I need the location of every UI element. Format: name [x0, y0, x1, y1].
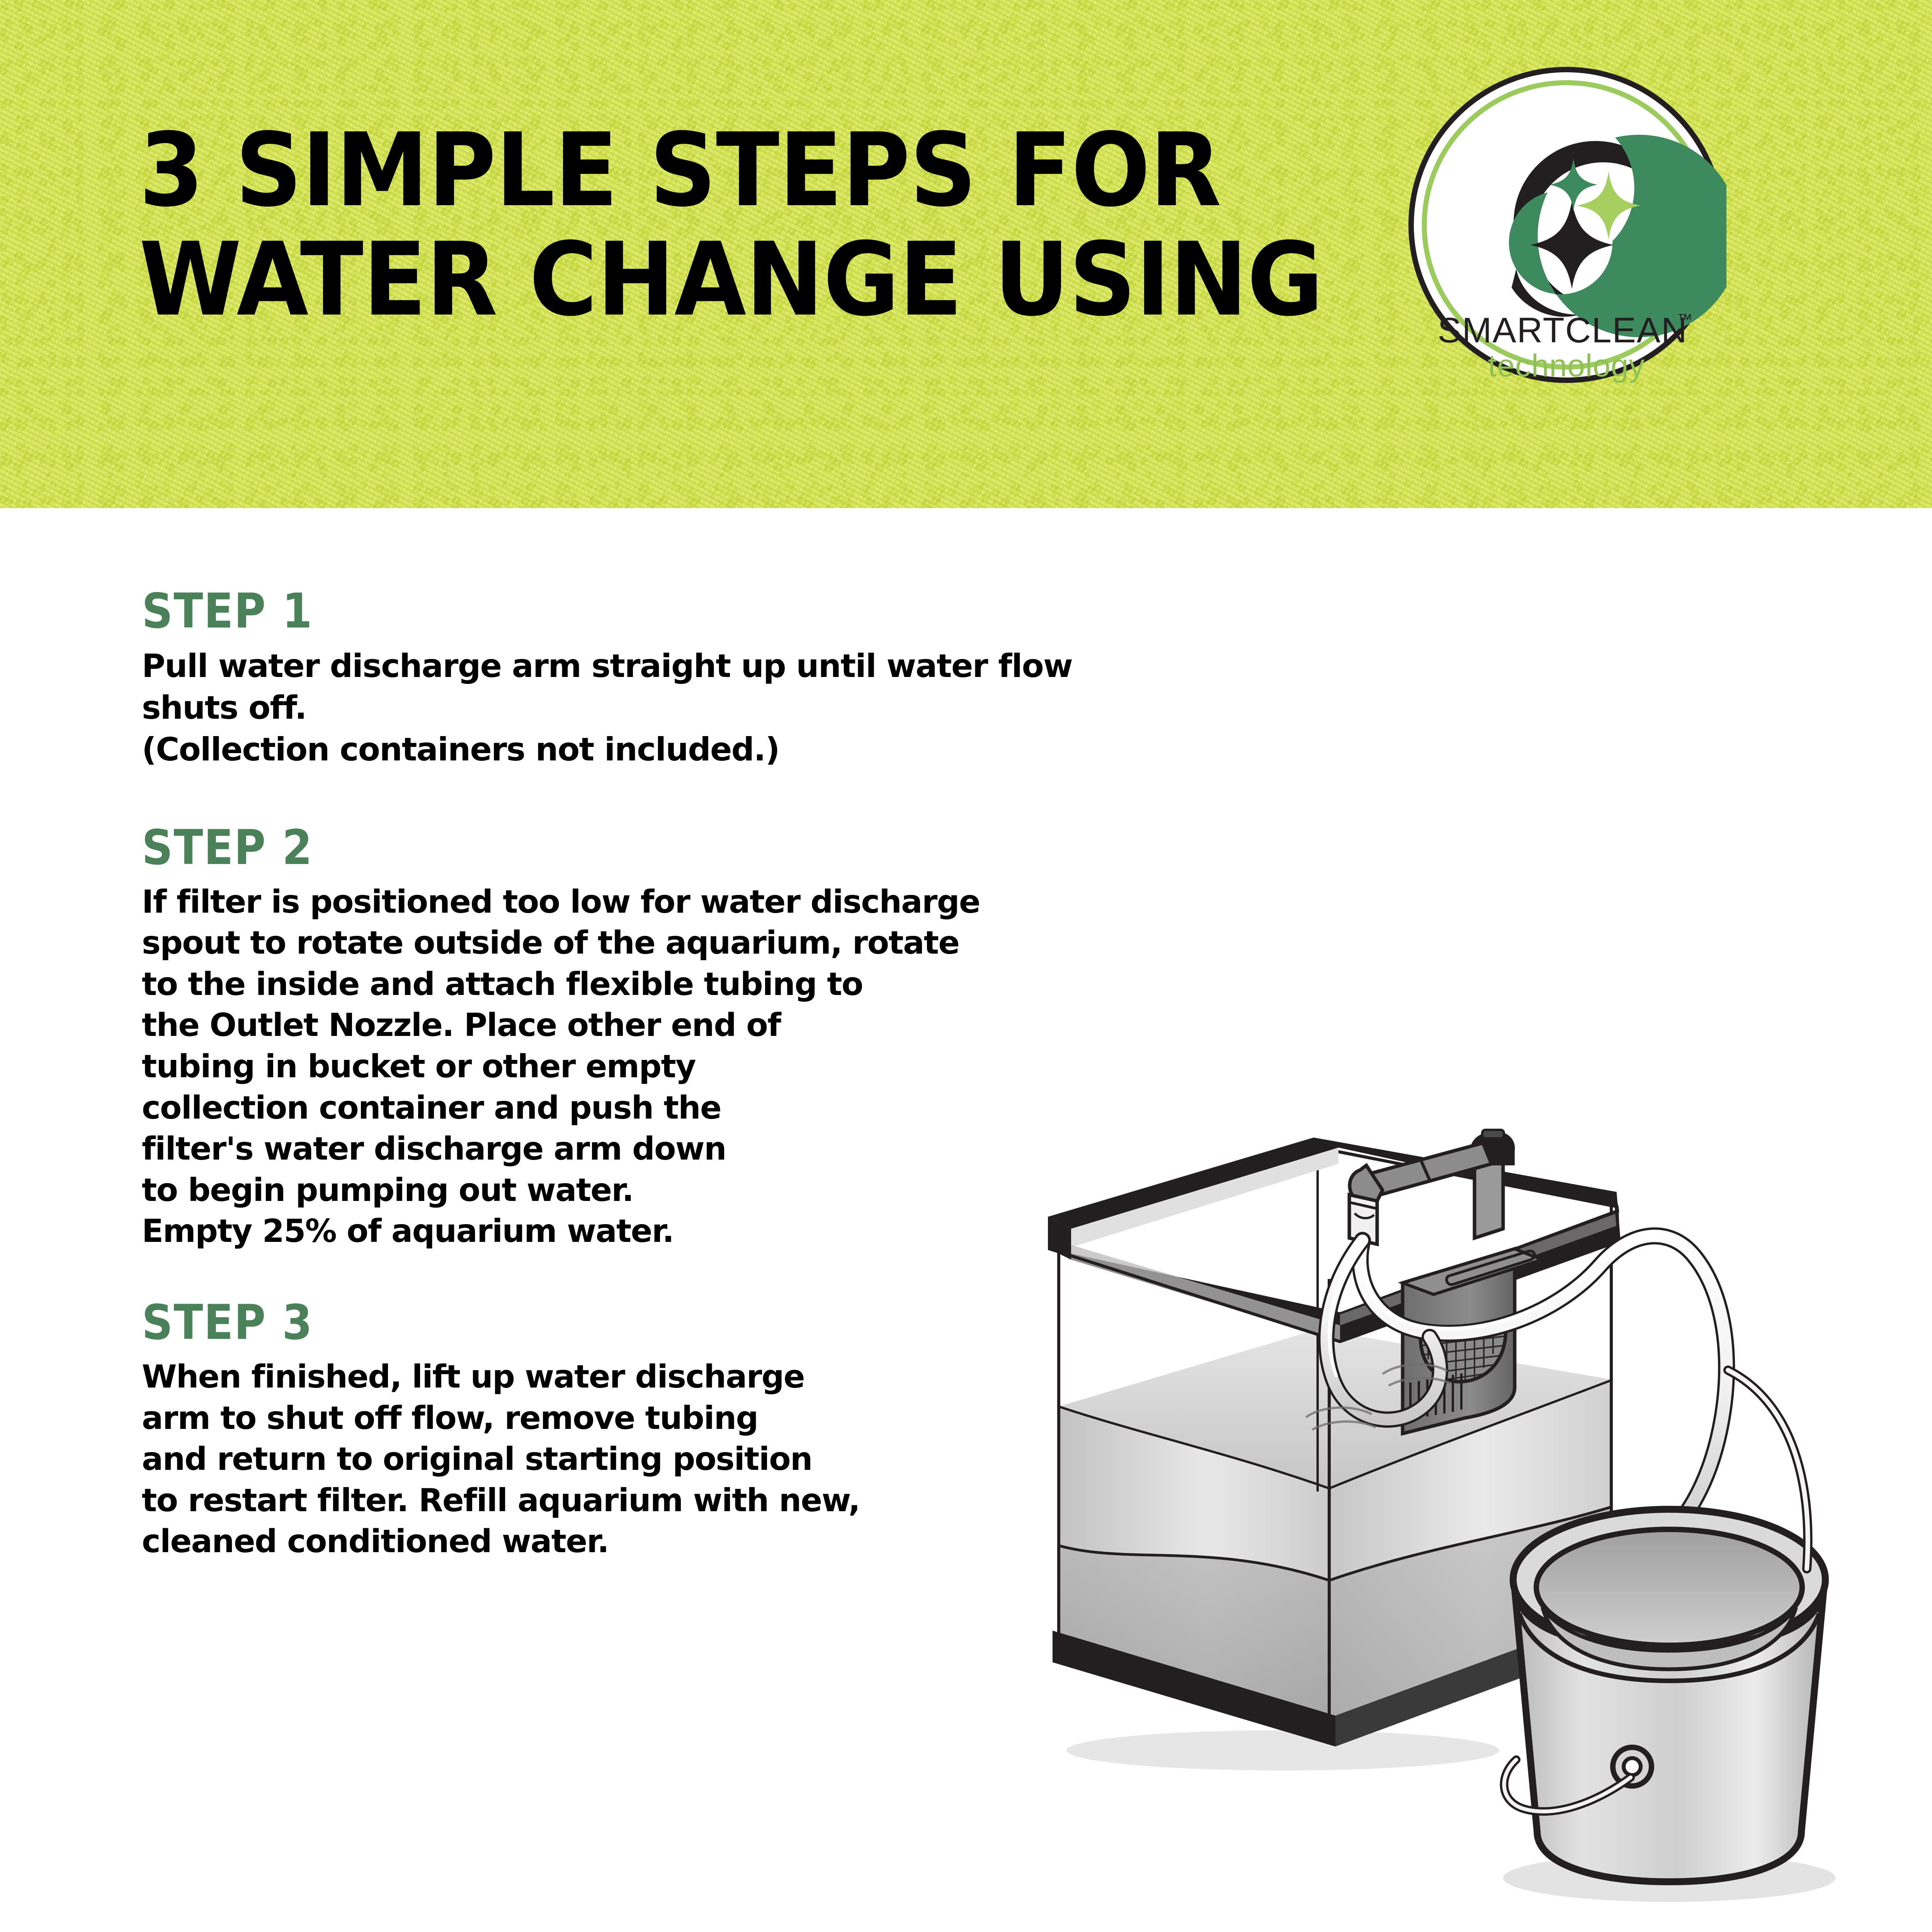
step-1-body: Pull water discharge arm straight up unt…	[142, 645, 1146, 770]
step-2-heading: STEP 2	[142, 824, 1146, 872]
bucket-rim-inner	[1536, 1529, 1802, 1645]
steps-list: STEP 1 Pull water discharge arm straight…	[142, 587, 1146, 1563]
title-line-2: WATER CHANGE USING	[139, 225, 1384, 335]
title-line-1: 3 SIMPLE STEPS FOR	[139, 116, 1384, 225]
logo-brand-text: SMARTCLEAN	[1437, 311, 1687, 350]
page-title: 3 SIMPLE STEPS FOR WATER CHANGE USING	[139, 116, 1360, 335]
step-3-heading: STEP 3	[142, 1299, 1146, 1347]
discharge-arm-cap	[1482, 1130, 1504, 1138]
step-block-3: STEP 3 When finished, lift up water disc…	[142, 1299, 1146, 1563]
tank-shadow	[1066, 1730, 1499, 1770]
smartclean-logo: SMARTCLEAN ™ technology	[1406, 65, 1726, 385]
step-3-body: When finished, lift up water discharge a…	[142, 1357, 1146, 1563]
water-discharge-arm[interactable]	[1349, 1130, 1514, 1244]
logo-trademark-icon: ™	[1677, 311, 1692, 328]
logo-tagline-text: technology	[1488, 348, 1645, 383]
step-block-2: STEP 2 If filter is positioned too low f…	[142, 824, 1146, 1252]
step-2-body: If filter is positioned too low for wate…	[142, 882, 1146, 1252]
step-block-1: STEP 1 Pull water discharge arm straight…	[142, 587, 1146, 770]
step-1-heading: STEP 1	[142, 587, 1146, 635]
aquarium-illustration	[1012, 989, 1932, 1928]
